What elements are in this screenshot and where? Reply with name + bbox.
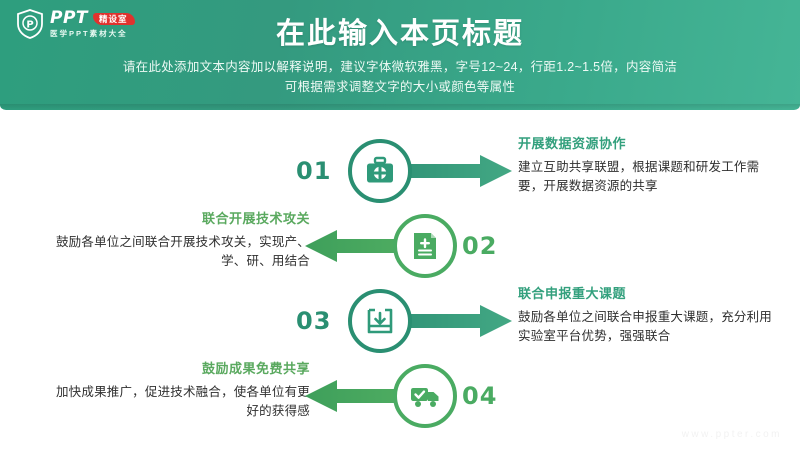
download-inbox-icon	[365, 306, 395, 336]
step-icon-circle[interactable]	[348, 289, 412, 353]
subtitle-line-1: 请在此处添加文本内容加以解释说明，建议字体微软雅黑，字号12~24，行距1.2~…	[0, 57, 800, 77]
step-text-block: 开展数据资源协作 建立互助共享联盟，根据课题和研发工作需要，开展数据资源的共享	[518, 133, 776, 196]
step-body: 加快成果推广，促进技术融合，使各单位有更好的获得感	[52, 383, 310, 421]
step-body: 建立互助共享联盟，根据课题和研发工作需要，开展数据资源的共享	[518, 158, 776, 196]
step-icon-circle[interactable]	[348, 139, 412, 203]
step-text-block: 联合申报重大课题 鼓励各单位之间联合申报重大课题，充分利用实验室平台优势，强强联…	[518, 283, 776, 346]
step-icon-circle[interactable]	[393, 364, 457, 428]
slide-root: P PPT 精设室 医学PPT素材大全 在此输入本页标题 请在此处添加文本内容加…	[0, 0, 800, 450]
content-rows: 01	[0, 110, 800, 450]
step-heading: 联合申报重大课题	[518, 283, 776, 302]
header-band: P PPT 精设室 医学PPT素材大全 在此输入本页标题 请在此处添加文本内容加…	[0, 0, 800, 110]
step-icon-circle[interactable]	[393, 214, 457, 278]
step-heading: 开展数据资源协作	[518, 133, 776, 152]
site-watermark: www.ppter.com	[682, 429, 782, 440]
process-item-3: 03 联合申报重大课题	[0, 283, 800, 361]
step-body: 鼓励各单位之间联合申报重大课题，充分利用实验室平台优势，强强联合	[518, 308, 776, 346]
delivery-truck-check-icon	[409, 383, 441, 409]
step-body: 鼓励各单位之间联合开展技术攻关，实现产、学、研、用结合	[52, 233, 310, 271]
step-text-block: 鼓励成果免费共享 加快成果推广，促进技术融合，使各单位有更好的获得感	[52, 358, 310, 421]
step-heading: 联合开展技术攻关	[52, 208, 310, 227]
process-item-1: 01	[0, 133, 800, 211]
page-title: 在此输入本页标题	[0, 10, 800, 52]
process-item-4: 04	[0, 358, 800, 436]
subtitle-line-2: 可根据需求调整文字的大小或颜色等属性	[0, 77, 800, 97]
step-number: 01	[296, 157, 331, 185]
page-subtitle: 请在此处添加文本内容加以解释说明，建议字体微软雅黑，字号12~24，行距1.2~…	[0, 57, 800, 97]
step-number: 04	[462, 382, 497, 410]
process-item-2: 02	[0, 208, 800, 286]
step-number: 03	[296, 307, 331, 335]
medical-briefcase-icon	[364, 155, 396, 187]
step-heading: 鼓励成果免费共享	[52, 358, 310, 377]
medical-document-icon	[410, 230, 440, 262]
step-text-block: 联合开展技术攻关 鼓励各单位之间联合开展技术攻关，实现产、学、研、用结合	[52, 208, 310, 271]
step-number: 02	[462, 232, 497, 260]
